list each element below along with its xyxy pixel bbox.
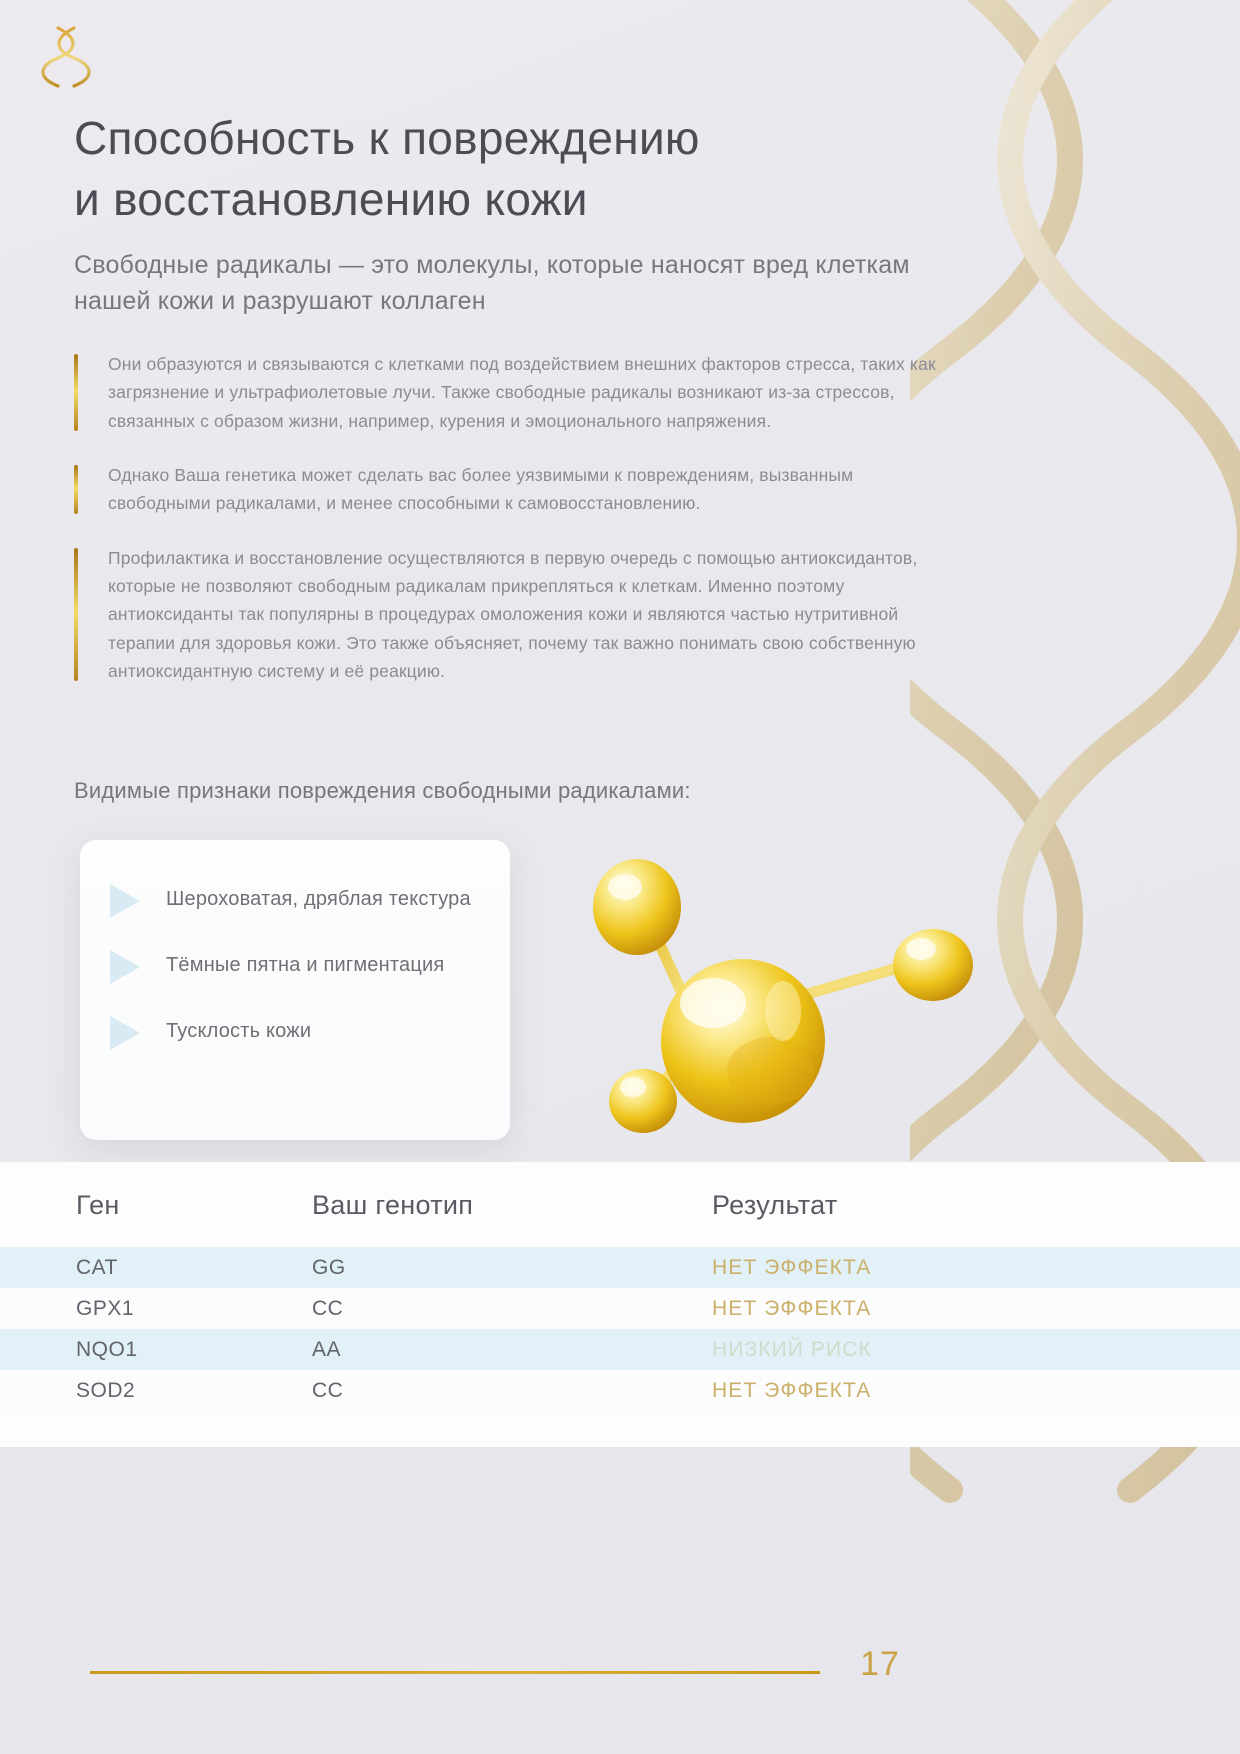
paragraph-list: Они образуются и связываются с клетками … bbox=[74, 350, 954, 685]
table-header-row: Ген Ваш генотип Результат bbox=[0, 1162, 1240, 1247]
table-row: NQO1 AA НИЗКИЙ РИСК bbox=[0, 1329, 1240, 1370]
cell-genotype: AA bbox=[312, 1338, 712, 1362]
paragraph-block: Профилактика и восстановление осуществля… bbox=[74, 544, 954, 686]
list-item: Тусклость кожи bbox=[106, 1012, 490, 1052]
list-item-label: Тусклость кожи bbox=[166, 1018, 311, 1046]
gold-accent-bar bbox=[74, 548, 78, 682]
cell-genotype: CC bbox=[312, 1297, 712, 1321]
page-title: Способность к повреждению и восстановлен… bbox=[74, 108, 934, 229]
report-page: Способность к повреждению и восстановлен… bbox=[0, 0, 1240, 1754]
footer-divider-rule bbox=[90, 1671, 820, 1674]
molecule-illustration bbox=[575, 835, 1005, 1145]
cell-gene: SOD2 bbox=[0, 1379, 312, 1403]
page-subtitle: Свободные радикалы — это молекулы, котор… bbox=[74, 248, 954, 319]
list-item: Шероховатая, дряблая текстура bbox=[106, 880, 490, 920]
table-row: CAT GG НЕТ ЭФФЕКТА bbox=[0, 1247, 1240, 1288]
table-row: SOD2 CC НЕТ ЭФФЕКТА bbox=[0, 1370, 1240, 1411]
cell-genotype: GG bbox=[312, 1256, 712, 1280]
cell-result: НИЗКИЙ РИСК bbox=[712, 1338, 1240, 1362]
cell-result: НЕТ ЭФФЕКТА bbox=[712, 1379, 1240, 1403]
column-header-gene: Ген bbox=[0, 1190, 312, 1221]
cell-gene: CAT bbox=[0, 1256, 312, 1280]
list-item: Тёмные пятна и пигментация bbox=[106, 946, 490, 986]
paragraph-text: Они образуются и связываются с клетками … bbox=[108, 350, 954, 435]
gold-accent-bar bbox=[74, 354, 78, 431]
column-header-genotype: Ваш генотип bbox=[312, 1190, 712, 1221]
triangle-bullet-icon bbox=[106, 880, 148, 920]
page-title-line-2: и восстановлению кожи bbox=[74, 169, 934, 230]
table-bottom-spacer bbox=[0, 1411, 1240, 1447]
column-header-result: Результат bbox=[712, 1190, 1240, 1221]
page-title-line-1: Способность к повреждению bbox=[74, 108, 934, 169]
triangle-bullet-icon bbox=[106, 946, 148, 986]
cell-gene: NQO1 bbox=[0, 1338, 312, 1362]
dna-helix-logo-icon bbox=[40, 24, 94, 90]
paragraph-text: Профилактика и восстановление осуществля… bbox=[108, 544, 954, 686]
triangle-bullet-icon bbox=[106, 1012, 148, 1052]
visible-signs-heading: Видимые признаки повреждения свободными … bbox=[74, 778, 974, 804]
table-row: GPX1 CC НЕТ ЭФФЕКТА bbox=[0, 1288, 1240, 1329]
cell-gene: GPX1 bbox=[0, 1297, 312, 1321]
cell-result: НЕТ ЭФФЕКТА bbox=[712, 1297, 1240, 1321]
paragraph-block: Однако Ваша генетика может сделать вас б… bbox=[74, 461, 954, 518]
cell-genotype: CC bbox=[312, 1379, 712, 1403]
gold-accent-bar bbox=[74, 465, 78, 514]
signs-list: Шероховатая, дряблая текстура Тёмные пят… bbox=[106, 880, 490, 1052]
page-footer bbox=[0, 1630, 1240, 1754]
paragraph-text: Однако Ваша генетика может сделать вас б… bbox=[108, 461, 954, 518]
cell-result: НЕТ ЭФФЕКТА bbox=[712, 1256, 1240, 1280]
page-number: 17 bbox=[820, 1645, 940, 1684]
genotype-results-table: Ген Ваш генотип Результат CAT GG НЕТ ЭФФ… bbox=[0, 1162, 1240, 1447]
list-item-label: Шероховатая, дряблая текстура bbox=[166, 886, 471, 914]
paragraph-block: Они образуются и связываются с клетками … bbox=[74, 350, 954, 435]
visible-signs-card: Шероховатая, дряблая текстура Тёмные пят… bbox=[80, 840, 510, 1140]
list-item-label: Тёмные пятна и пигментация bbox=[166, 952, 444, 980]
